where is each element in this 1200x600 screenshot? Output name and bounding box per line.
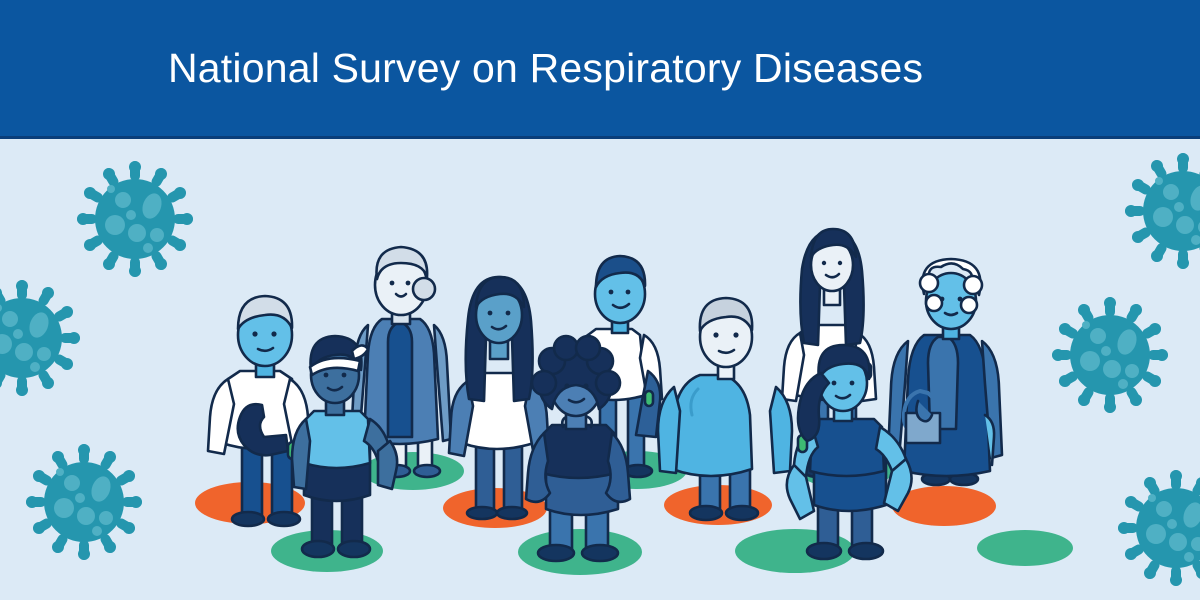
person-elderly-woman-handbag [888, 259, 1002, 485]
hero-illustration [0, 139, 1200, 600]
person-older-man-sweater [658, 298, 792, 520]
survey-banner-page: National Survey on Respiratory Diseases [0, 0, 1200, 600]
person-man-white-tshirt [208, 296, 310, 526]
header-banner: National Survey on Respiratory Diseases [0, 0, 1200, 139]
page-title: National Survey on Respiratory Diseases [168, 48, 923, 89]
people-group-illustration [0, 139, 1200, 600]
